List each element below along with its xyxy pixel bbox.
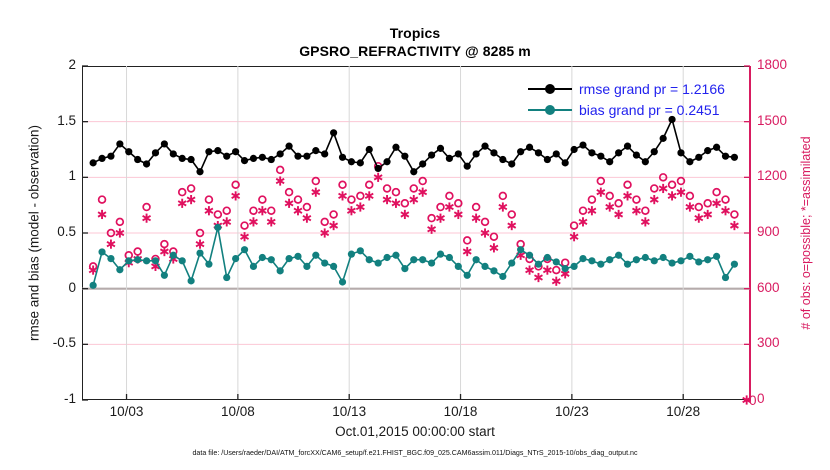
obs-possible-marker [597, 178, 604, 185]
obs-possible-marker [473, 204, 480, 211]
obs-assimilated-marker [615, 210, 623, 219]
y-axis-right-tick-label: 600 [757, 280, 780, 295]
obs-possible-marker [491, 233, 498, 240]
obs-assimilated-marker [704, 210, 712, 219]
obs-assimilated-marker [437, 214, 445, 223]
data-point [704, 256, 711, 263]
data-point [668, 259, 675, 266]
obs-assimilated-marker [107, 240, 115, 249]
data-point [214, 147, 221, 154]
obs-possible-marker [179, 189, 186, 196]
data-point [285, 255, 292, 262]
x-axis-tick-label: 10/23 [555, 404, 589, 419]
data-point [321, 259, 328, 266]
obs-possible-marker [508, 211, 515, 218]
data-point [152, 257, 159, 264]
data-point [107, 255, 114, 262]
obs-possible-marker [419, 178, 426, 185]
obs-possible-marker [615, 200, 622, 207]
y-axis-right-tick-label: 0 [757, 391, 765, 406]
y-axis-tick-label: 1.5 [57, 113, 76, 128]
data-point [419, 256, 426, 263]
obs-possible-marker [606, 192, 613, 199]
obs-possible-marker [214, 211, 221, 218]
obs-possible-marker [134, 248, 141, 255]
data-point [268, 256, 275, 263]
legend-item-bias: bias grand pr = 0.2451 [528, 99, 725, 120]
data-point [188, 277, 195, 284]
data-point [579, 255, 586, 262]
data-point [695, 258, 702, 265]
obs-possible-marker [410, 185, 417, 192]
chart-page: Tropics GPSRO_REFRACTIVITY @ 8285 m rmse… [0, 0, 830, 470]
data-point [446, 254, 453, 261]
data-point [704, 147, 711, 154]
y-axis-right-tick-label: 900 [757, 224, 780, 239]
data-point [731, 154, 738, 161]
data-point [553, 258, 560, 265]
obs-assimilated-marker [588, 206, 596, 215]
obs-possible-marker [303, 204, 310, 211]
data-point [285, 143, 292, 150]
data-point [196, 249, 203, 256]
obs-assimilated-marker [365, 191, 373, 200]
data-point [642, 254, 649, 261]
data-point [188, 156, 195, 163]
data-point [544, 156, 551, 163]
obs-assimilated-marker [445, 202, 453, 211]
data-point [125, 148, 132, 155]
data-point [633, 256, 640, 263]
data-point [473, 150, 480, 157]
data-point [357, 159, 364, 166]
obs-assimilated-marker [641, 217, 649, 226]
obs-possible-marker [223, 207, 230, 214]
obs-assimilated-marker [303, 214, 311, 223]
x-axis-tick-label: 10/03 [110, 404, 144, 419]
legend-marker-rmse [528, 83, 572, 95]
data-point [312, 252, 319, 259]
obs-possible-marker [642, 207, 649, 214]
obs-possible-marker [188, 185, 195, 192]
data-point [232, 255, 239, 262]
data-point [321, 150, 328, 157]
data-point [579, 141, 586, 148]
obs-assimilated-marker [143, 214, 151, 223]
obs-assimilated-marker [401, 210, 409, 219]
obs-possible-marker [330, 211, 337, 218]
data-point [731, 261, 738, 268]
data-point [455, 263, 462, 270]
y-axis-tick-label: 2 [68, 57, 76, 72]
obs-assimilated-marker [499, 202, 507, 211]
obs-possible-marker [482, 218, 489, 225]
obs-assimilated-marker [730, 221, 738, 230]
data-point [597, 153, 604, 160]
data-point [241, 246, 248, 253]
y-axis-right-tick-label: 1200 [757, 168, 787, 183]
obs-assimilated-marker [383, 195, 391, 204]
obs-assimilated-marker [410, 195, 418, 204]
data-point [437, 251, 444, 258]
legend-label-bias: bias grand pr = 0.2451 [579, 102, 720, 118]
data-point [642, 158, 649, 165]
chart-legend: rmse grand pr = 1.2166 bias grand pr = 0… [528, 78, 725, 120]
obs-possible-marker [695, 204, 702, 211]
obs-assimilated-marker [205, 206, 213, 215]
obs-possible-marker [704, 200, 711, 207]
obs-assimilated-marker [552, 277, 560, 286]
y-axis-right-tick-label: 1800 [757, 57, 787, 72]
obs-possible-marker [357, 192, 364, 199]
obs-possible-marker [580, 207, 587, 214]
data-point [259, 254, 266, 261]
data-point [107, 153, 114, 160]
data-point [223, 153, 230, 160]
data-point [294, 253, 301, 260]
data-point [526, 144, 533, 151]
data-point [508, 160, 515, 167]
obs-assimilated-marker [659, 184, 667, 193]
y-axis-tick-label: 0 [68, 280, 76, 295]
data-point [535, 261, 542, 268]
obs-assimilated-marker [419, 188, 427, 197]
data-point [116, 140, 123, 147]
left-axis-title: rmse and bias (model - observation) [24, 66, 44, 400]
obs-assimilated-marker [98, 210, 106, 219]
obs-assimilated-marker [160, 247, 168, 256]
data-point [544, 254, 551, 261]
obs-assimilated-marker [534, 273, 542, 282]
obs-possible-marker [633, 196, 640, 203]
obs-assimilated-marker [463, 247, 471, 256]
data-point [517, 246, 524, 253]
obs-possible-marker [384, 185, 391, 192]
obs-possible-marker [277, 167, 284, 174]
data-point [517, 148, 524, 155]
obs-assimilated-marker [285, 199, 293, 208]
data-point [615, 252, 622, 259]
obs-possible-marker [428, 215, 435, 222]
obs-assimilated-marker [312, 188, 320, 197]
data-point [339, 278, 346, 285]
x-axis-title: Oct.01,2015 00:00:00 start [0, 424, 830, 439]
data-point [348, 251, 355, 258]
data-point [473, 256, 480, 263]
obs-possible-marker [669, 181, 676, 188]
obs-possible-marker [116, 218, 123, 225]
data-point [348, 158, 355, 165]
data-point [419, 160, 426, 167]
data-point [196, 168, 203, 175]
data-point [205, 148, 212, 155]
obs-assimilated-marker [624, 191, 632, 200]
data-point [161, 272, 168, 279]
obs-possible-marker [401, 200, 408, 207]
data-point [250, 263, 257, 270]
data-point [401, 153, 408, 160]
y-axis-tick-label: 0.5 [57, 224, 76, 239]
data-point [98, 155, 105, 162]
legend-item-rmse: rmse grand pr = 1.2166 [528, 78, 725, 99]
obs-assimilated-marker [249, 217, 257, 226]
obs-assimilated-marker [258, 206, 266, 215]
data-point [481, 263, 488, 270]
obs-possible-marker [321, 218, 328, 225]
obs-possible-marker [651, 185, 658, 192]
data-point [722, 153, 729, 160]
obs-assimilated-marker [686, 202, 694, 211]
data-point [633, 151, 640, 158]
obs-assimilated-marker [356, 202, 364, 211]
data-point [570, 263, 577, 270]
obs-assimilated-marker [347, 206, 355, 215]
obs-possible-marker [206, 196, 213, 203]
obs-possible-marker [366, 181, 373, 188]
data-point [624, 261, 631, 268]
data-point [464, 163, 471, 170]
obs-assimilated-marker [526, 266, 534, 275]
data-point [686, 253, 693, 260]
data-point [606, 158, 613, 165]
data-point [446, 155, 453, 162]
data-point [508, 259, 515, 266]
obs-assimilated-marker [695, 214, 703, 223]
data-point [677, 257, 684, 264]
data-point [428, 151, 435, 158]
obs-assimilated-marker [232, 191, 240, 200]
data-point [223, 274, 230, 281]
data-point [499, 156, 506, 163]
legend-marker-bias [528, 104, 572, 116]
left-axis-title-text: rmse and bias (model - observation) [27, 125, 42, 341]
data-point [116, 266, 123, 273]
obs-possible-marker [250, 207, 257, 214]
data-point [562, 159, 569, 166]
obs-possible-marker [624, 181, 631, 188]
obs-possible-marker [161, 241, 168, 248]
data-point [98, 248, 105, 255]
data-point [277, 150, 284, 157]
chart-svg [0, 0, 830, 470]
data-point [179, 257, 186, 264]
data-point [268, 156, 275, 163]
data-point [330, 263, 337, 270]
data-point [535, 149, 542, 156]
data-point [428, 259, 435, 266]
data-point [392, 252, 399, 259]
obs-possible-marker [589, 196, 596, 203]
x-axis-tick-label: 10/18 [444, 404, 478, 419]
obs-possible-marker [393, 189, 400, 196]
data-point [553, 150, 560, 157]
data-point [651, 257, 658, 264]
obs-possible-marker [713, 189, 720, 196]
data-point [90, 282, 97, 289]
obs-possible-marker [731, 211, 738, 218]
obs-assimilated-marker [668, 191, 676, 200]
obs-possible-marker [722, 196, 729, 203]
legend-label-rmse: rmse grand pr = 1.2166 [579, 81, 725, 97]
y-axis-right-tick-label: 1500 [757, 113, 787, 128]
obs-possible-marker [143, 204, 150, 211]
data-point [499, 273, 506, 280]
y-axis-tick-label: 1 [68, 168, 76, 183]
data-point [695, 154, 702, 161]
obs-assimilated-marker [223, 217, 231, 226]
y-axis-right-tick-label: 300 [757, 335, 780, 350]
obs-assimilated-marker [339, 191, 347, 200]
obs-assimilated-marker [677, 188, 685, 197]
data-point [170, 150, 177, 157]
obs-assimilated-marker [650, 195, 658, 204]
data-point [383, 254, 390, 261]
data-point [437, 145, 444, 152]
obs-possible-marker [437, 204, 444, 211]
data-point [294, 153, 301, 160]
data-point [660, 254, 667, 261]
y-axis-tick-label: -0.5 [53, 335, 76, 350]
obs-assimilated-marker [632, 206, 640, 215]
data-point [410, 168, 417, 175]
series-line [93, 119, 734, 171]
obs-possible-marker [339, 181, 346, 188]
data-point [588, 149, 595, 156]
data-point [214, 224, 221, 231]
data-point [455, 150, 462, 157]
data-point [366, 256, 373, 263]
data-point [303, 153, 310, 160]
right-axis-title-text: # of obs: o=possible; *=assimilated [799, 136, 813, 329]
data-point [464, 272, 471, 279]
data-point [303, 263, 310, 270]
obs-possible-marker [499, 192, 506, 199]
data-file-footer: data file: /Users/raeder/DAI/ATM_forcXX/… [0, 449, 830, 457]
data-point [526, 252, 533, 259]
obs-assimilated-marker [543, 266, 551, 275]
obs-possible-marker [99, 196, 106, 203]
data-point [241, 157, 248, 164]
data-point [490, 267, 497, 274]
right-axis-title: # of obs: o=possible; *=assimilated [795, 66, 817, 400]
data-point [401, 265, 408, 272]
obs-possible-marker [312, 178, 319, 185]
obs-assimilated-marker [722, 206, 730, 215]
obs-assimilated-marker [597, 188, 605, 197]
obs-assimilated-marker [508, 221, 516, 230]
data-point [677, 149, 684, 156]
data-point [410, 256, 417, 263]
obs-assimilated-marker [330, 221, 338, 230]
data-point [383, 158, 390, 165]
data-point [722, 274, 729, 281]
obs-possible-marker [259, 196, 266, 203]
obs-possible-marker [686, 192, 693, 199]
data-point [330, 129, 337, 136]
data-point [179, 155, 186, 162]
obs-assimilated-marker [178, 199, 186, 208]
obs-assimilated-marker [713, 199, 721, 208]
data-point [312, 147, 319, 154]
obs-assimilated-marker [187, 195, 195, 204]
x-axis-tick-label: 10/08 [221, 404, 255, 419]
data-point [134, 256, 141, 263]
obs-assimilated-marker [472, 214, 480, 223]
data-point [606, 256, 613, 263]
data-point [490, 149, 497, 156]
data-point [143, 257, 150, 264]
data-point [339, 154, 346, 161]
obs-assimilated-marker [294, 206, 302, 215]
data-point [143, 160, 150, 167]
data-point [259, 154, 266, 161]
data-point [624, 143, 631, 150]
obs-possible-marker [286, 189, 293, 196]
obs-assimilated-marker [579, 217, 587, 226]
obs-assimilated-marker [267, 217, 275, 226]
data-point [90, 159, 97, 166]
data-point [392, 144, 399, 151]
right-axis-zero-label: 0 [749, 393, 757, 408]
data-point [170, 252, 177, 259]
obs-possible-marker [268, 207, 275, 214]
data-point [134, 156, 141, 163]
data-point [357, 247, 364, 254]
obs-assimilated-marker [196, 240, 204, 249]
x-axis-tick-label: 10/13 [332, 404, 366, 419]
obs-assimilated-marker [392, 199, 400, 208]
data-point [660, 135, 667, 142]
obs-possible-marker [295, 196, 302, 203]
obs-possible-marker [464, 237, 471, 244]
data-point [375, 165, 382, 172]
data-point [125, 257, 132, 264]
data-point [205, 261, 212, 268]
data-point [232, 148, 239, 155]
data-point [713, 253, 720, 260]
data-point [366, 146, 373, 153]
obs-assimilated-marker [606, 202, 614, 211]
obs-possible-marker [241, 222, 248, 229]
data-point [570, 146, 577, 153]
obs-possible-marker [446, 192, 453, 199]
data-point [161, 140, 168, 147]
data-point [481, 143, 488, 150]
data-point [597, 261, 604, 268]
obs-assimilated-marker [490, 243, 498, 252]
data-point [152, 149, 159, 156]
data-point [250, 155, 257, 162]
data-point [713, 144, 720, 151]
data-point [375, 259, 382, 266]
data-point [686, 158, 693, 165]
data-point [277, 267, 284, 274]
data-point [588, 257, 595, 264]
data-point [615, 149, 622, 156]
y-axis-tick-label: -1 [64, 391, 76, 406]
data-point [562, 265, 569, 272]
obs-possible-marker [553, 267, 560, 274]
obs-assimilated-marker [454, 210, 462, 219]
x-axis-tick-label: 10/28 [666, 404, 700, 419]
data-point [651, 148, 658, 155]
